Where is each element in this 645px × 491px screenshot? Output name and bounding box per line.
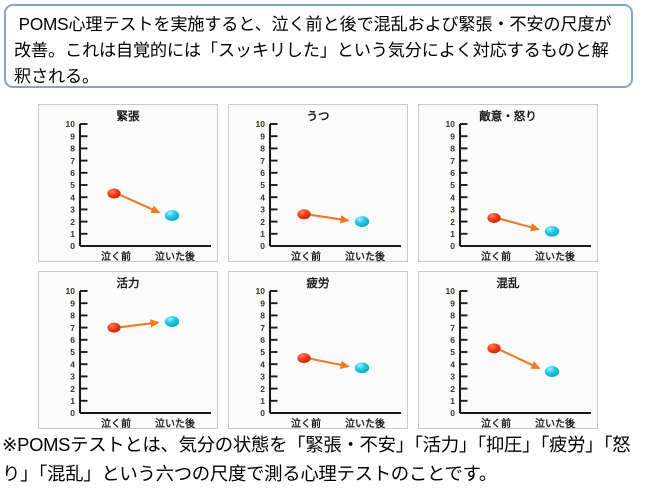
y-axis-tick-label: 7: [260, 156, 265, 166]
y-axis-tick-label: 2: [70, 384, 75, 394]
x-axis-tick-label: 泣いた後: [535, 250, 576, 263]
trend-arrow: [500, 219, 538, 229]
y-axis-tick-label: 2: [450, 217, 455, 227]
y-axis-tick-label: 5: [450, 347, 455, 357]
y-axis-tick-label: 0: [260, 408, 265, 418]
data-point-before: [487, 213, 500, 223]
y-axis-tick-label: 2: [70, 217, 75, 227]
trend-arrow: [310, 215, 348, 221]
y-axis-tick-label: 1: [70, 229, 75, 239]
data-point-before: [107, 189, 120, 199]
x-axis-tick-label: 泣いた後: [535, 417, 576, 430]
chart-plot-area: 109876543210泣く前泣いた後: [229, 105, 409, 263]
y-axis-tick-label: 5: [260, 180, 265, 190]
x-axis-tick-label: 泣く前: [101, 250, 131, 263]
y-axis-tick-label: 5: [70, 180, 75, 190]
x-axis-tick-label: 泣く前: [481, 250, 511, 263]
y-axis-tick-label: 1: [450, 229, 455, 239]
y-axis-tick-label: 4: [70, 192, 75, 202]
chart-panel: 疲労109876543210泣く前泣いた後: [228, 271, 408, 429]
chart-panel: 緊張109876543210泣く前泣いた後: [38, 104, 218, 262]
y-axis-tick-label: 5: [70, 347, 75, 357]
data-point-after: [355, 216, 369, 227]
y-axis-tick-label: 10: [256, 119, 266, 129]
y-axis-tick-label: 1: [70, 396, 75, 406]
y-axis-tick-label: 10: [256, 286, 266, 296]
header-summary-text: POMS心理テストを実施すると、泣く前と後で混乱および緊張・不安の尺度が改善。こ…: [14, 11, 623, 89]
y-axis-tick-label: 8: [70, 311, 75, 321]
y-axis-tick-label: 9: [260, 131, 265, 141]
y-axis-tick-label: 1: [260, 396, 265, 406]
y-axis-tick-label: 8: [260, 311, 265, 321]
chart-panel: 敵意・怒り109876543210泣く前泣いた後: [418, 104, 598, 262]
x-axis-tick-label: 泣いた後: [345, 417, 386, 430]
chart-plot-area: 109876543210泣く前泣いた後: [419, 105, 599, 263]
trend-arrow: [310, 359, 348, 367]
y-axis-tick-label: 7: [70, 156, 75, 166]
y-axis-tick-label: 4: [70, 359, 75, 369]
y-axis-tick-label: 3: [70, 205, 75, 215]
data-point-before: [297, 209, 310, 219]
y-axis-tick-label: 6: [260, 335, 265, 345]
y-axis-tick-label: 0: [70, 408, 75, 418]
trend-arrow: [120, 195, 159, 212]
y-axis-tick-label: 4: [260, 359, 265, 369]
data-point-after: [355, 362, 369, 373]
y-axis-tick-label: 0: [70, 241, 75, 251]
y-axis-tick-label: 6: [260, 168, 265, 178]
x-axis-tick-label: 泣く前: [291, 417, 321, 430]
chart-panel: 活力109876543210泣く前泣いた後: [38, 271, 218, 429]
chart-panel: うつ109876543210泣く前泣いた後: [228, 104, 408, 262]
chart-plot-area: 109876543210泣く前泣いた後: [229, 272, 409, 430]
trend-arrow: [500, 350, 539, 368]
y-axis-tick-label: 0: [450, 408, 455, 418]
y-axis-tick-label: 8: [70, 144, 75, 154]
y-axis-tick-label: 9: [450, 131, 455, 141]
y-axis-tick-label: 2: [450, 384, 455, 394]
x-axis-tick-label: 泣いた後: [155, 417, 196, 430]
y-axis-tick-label: 1: [260, 229, 265, 239]
y-axis-tick-label: 4: [260, 192, 265, 202]
y-axis-tick-label: 5: [450, 180, 455, 190]
x-axis-tick-label: 泣く前: [481, 417, 511, 430]
y-axis-tick-label: 8: [260, 144, 265, 154]
data-point-before: [487, 343, 500, 353]
y-axis-tick-label: 3: [70, 372, 75, 382]
y-axis-tick-label: 10: [446, 119, 456, 129]
y-axis-tick-label: 4: [450, 359, 455, 369]
y-axis-tick-label: 4: [450, 192, 455, 202]
x-axis-tick-label: 泣いた後: [155, 250, 196, 263]
y-axis-tick-label: 8: [450, 311, 455, 321]
y-axis-tick-label: 1: [450, 396, 455, 406]
y-axis-tick-label: 2: [260, 384, 265, 394]
y-axis-tick-label: 7: [450, 156, 455, 166]
chart-plot-area: 109876543210泣く前泣いた後: [39, 105, 219, 263]
data-point-before: [107, 323, 120, 333]
data-point-after: [165, 316, 179, 327]
y-axis-tick-label: 6: [70, 335, 75, 345]
data-point-after: [545, 226, 559, 237]
y-axis-tick-label: 7: [70, 323, 75, 333]
y-axis-tick-label: 7: [260, 323, 265, 333]
y-axis-tick-label: 5: [260, 347, 265, 357]
y-axis-tick-label: 3: [260, 372, 265, 382]
y-axis-tick-label: 6: [450, 335, 455, 345]
chart-panel: 混乱109876543210泣く前泣いた後: [418, 271, 598, 429]
poms-chart-grid: 緊張109876543210泣く前泣いた後うつ109876543210泣く前泣い…: [38, 104, 598, 429]
y-axis-tick-label: 10: [66, 119, 76, 129]
y-axis-tick-label: 3: [450, 372, 455, 382]
footer-note-text: ※POMSテストとは、気分の状態を「緊張・不安」「活力」「抑圧」「疲労」「怒り」…: [2, 430, 643, 488]
y-axis-tick-label: 10: [446, 286, 456, 296]
chart-plot-area: 109876543210泣く前泣いた後: [419, 272, 599, 430]
x-axis-tick-label: 泣いた後: [345, 250, 386, 263]
y-axis-tick-label: 10: [66, 286, 76, 296]
y-axis-tick-label: 8: [450, 144, 455, 154]
y-axis-tick-label: 9: [260, 298, 265, 308]
trend-arrow: [120, 322, 158, 327]
data-point-before: [297, 353, 310, 363]
y-axis-tick-label: 3: [450, 205, 455, 215]
y-axis-tick-label: 6: [70, 168, 75, 178]
y-axis-tick-label: 9: [70, 131, 75, 141]
y-axis-tick-label: 7: [450, 323, 455, 333]
y-axis-tick-label: 2: [260, 217, 265, 227]
data-point-after: [545, 366, 559, 377]
x-axis-tick-label: 泣く前: [291, 250, 321, 263]
y-axis-tick-label: 6: [450, 168, 455, 178]
chart-plot-area: 109876543210泣く前泣いた後: [39, 272, 219, 430]
y-axis-tick-label: 9: [450, 298, 455, 308]
y-axis-tick-label: 3: [260, 205, 265, 215]
y-axis-tick-label: 9: [70, 298, 75, 308]
header-callout-box: POMS心理テストを実施すると、泣く前と後で混乱および緊張・不安の尺度が改善。こ…: [4, 4, 633, 88]
y-axis-tick-label: 0: [260, 241, 265, 251]
data-point-after: [165, 210, 179, 221]
y-axis-tick-label: 0: [450, 241, 455, 251]
x-axis-tick-label: 泣く前: [101, 417, 131, 430]
